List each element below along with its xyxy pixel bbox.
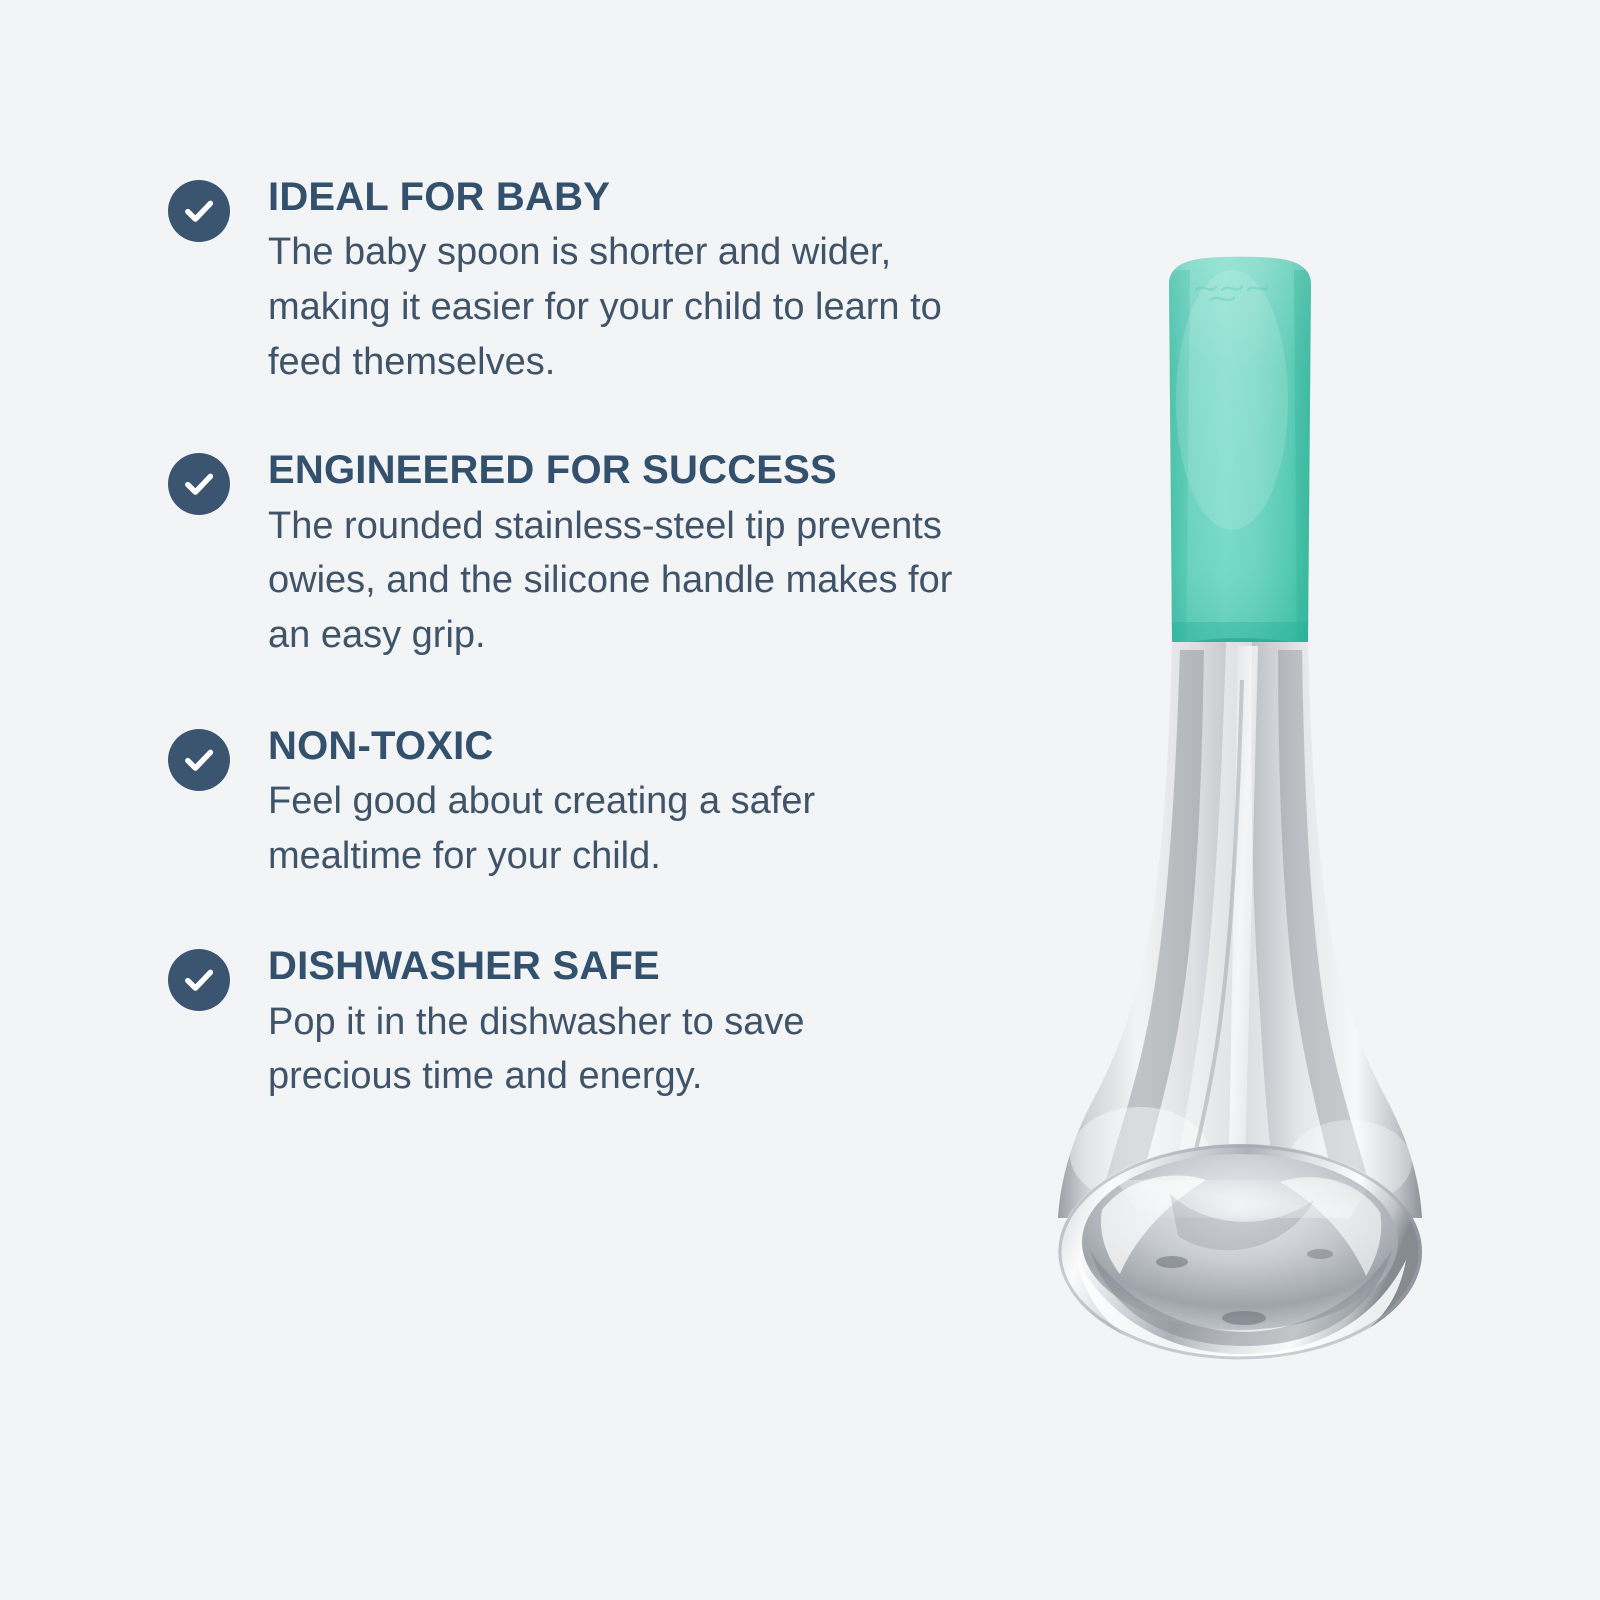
feature-title: IDEAL FOR BABY	[268, 176, 958, 219]
spoon-bowl	[1058, 1144, 1422, 1366]
feature-item-dishwasher-safe: DISHWASHER SAFE Pop it in the dishwasher…	[168, 945, 958, 1104]
check-circle-icon	[168, 949, 230, 1011]
feature-body: Feel good about creating a safer mealtim…	[268, 774, 958, 883]
spoon-silicone-handle	[1166, 257, 1314, 670]
baby-spoon-photo	[1020, 250, 1460, 1380]
feature-item-engineered-for-success: ENGINEERED FOR SUCCESS The rounded stain…	[168, 449, 958, 662]
feature-body: The baby spoon is shorter and wider, mak…	[268, 225, 958, 389]
check-circle-icon	[168, 453, 230, 515]
feature-title: NON-TOXIC	[268, 725, 958, 768]
check-circle-icon	[168, 729, 230, 791]
feature-item-ideal-for-baby: IDEAL FOR BABY The baby spoon is shorter…	[168, 176, 958, 389]
spoon-metal-shaft	[1058, 642, 1422, 1218]
feature-body: Pop it in the dishwasher to save preciou…	[268, 995, 958, 1104]
feature-title: ENGINEERED FOR SUCCESS	[268, 449, 958, 492]
feature-body: The rounded stainless-steel tip prevents…	[268, 499, 958, 663]
feature-title: DISHWASHER SAFE	[268, 945, 958, 988]
check-circle-icon	[168, 180, 230, 242]
feature-list: IDEAL FOR BABY The baby spoon is shorter…	[168, 176, 958, 1104]
infographic-page: IDEAL FOR BABY The baby spoon is shorter…	[0, 0, 1600, 1600]
feature-item-non-toxic: NON-TOXIC Feel good about creating a saf…	[168, 725, 958, 884]
